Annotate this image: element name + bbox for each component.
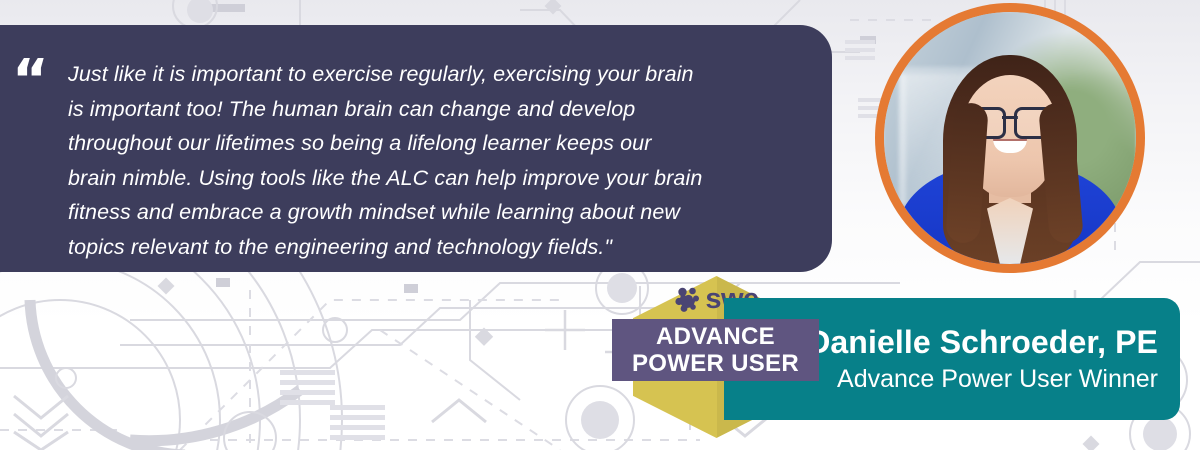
portrait-ring — [875, 3, 1145, 273]
ribbon-line-1: ADVANCE — [656, 323, 775, 350]
swe-mark-icon — [674, 287, 702, 313]
quote-line: Just like it is important to exercise re… — [68, 57, 788, 92]
quote-line: throughout our lifetimes so being a life… — [68, 126, 788, 161]
honoree-title: Advance Power User Winner — [837, 362, 1158, 396]
quote-line: fitness and embrace a growth mindset whi… — [68, 195, 788, 230]
honoree-name: Danielle Schroeder, PE — [807, 322, 1158, 362]
quote-line: is important too! The human brain can ch… — [68, 92, 788, 127]
quote-text: Just like it is important to exercise re… — [68, 57, 788, 264]
award-banner: “ Just like it is important to exercise … — [0, 0, 1200, 450]
quote-card: “ Just like it is important to exercise … — [0, 25, 832, 272]
ribbon-line-2: POWER USER — [632, 350, 799, 377]
quote-line: brain nimble. Using tools like the ALC c… — [68, 161, 788, 196]
badge-ribbon: ADVANCE POWER USER — [612, 319, 819, 381]
avatar — [884, 12, 1136, 264]
quote-line: topics relevant to the engineering and t… — [68, 230, 788, 265]
quote-mark-icon: “ — [12, 53, 48, 109]
